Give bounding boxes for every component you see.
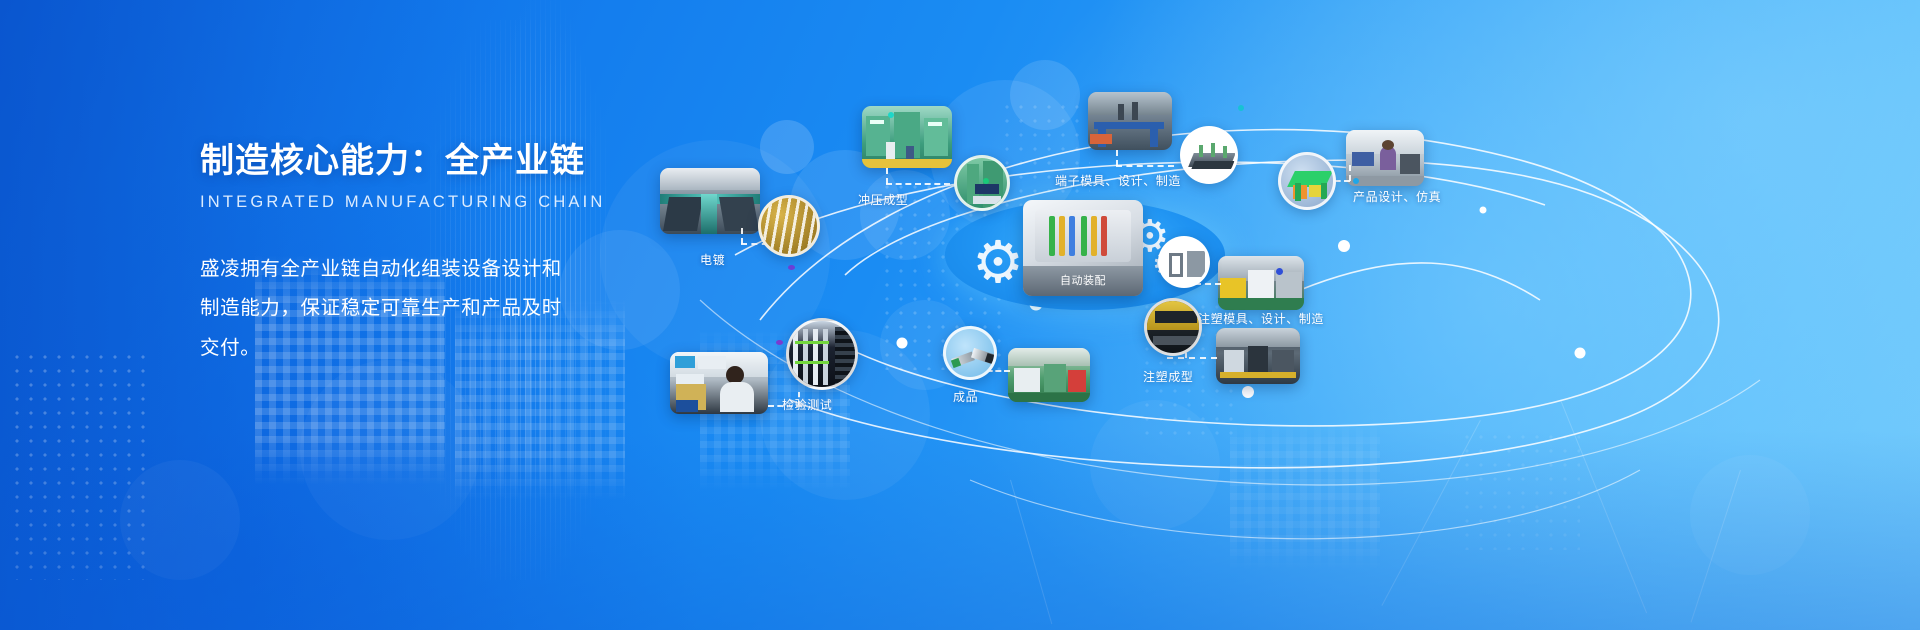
connector-terminal-mold-v [1116, 150, 1118, 166]
node-photo-terminal-mold[interactable] [1088, 92, 1172, 150]
node-label-stamping: 冲压成型 [858, 191, 908, 208]
accent-speck [776, 340, 783, 345]
node-photo-injection-mold[interactable] [1218, 256, 1304, 310]
node-label-terminal-mold: 端子模具、设计、制造 [1055, 172, 1181, 189]
connector-injection-molding [1167, 357, 1217, 359]
node-icon-injection-mold[interactable] [1158, 236, 1210, 288]
node-label-inspection-testing: 检验测试 [782, 396, 832, 413]
accent-speck [888, 112, 894, 118]
accent-speck [788, 265, 795, 270]
node-label-injection-molding: 注塑成型 [1143, 368, 1193, 385]
manufacturing-chain-diagram: ⚙ ⚙ ⚙ 自动装配 电镀 [640, 0, 1920, 630]
node-icon-product-design[interactable] [1278, 152, 1336, 210]
node-icon-finished-product[interactable] [943, 326, 997, 380]
node-photo-electroplating[interactable] [660, 168, 760, 234]
connector-product-design-v [1349, 165, 1351, 181]
gear-icon: ⚙ [972, 234, 1024, 292]
node-label-finished-product: 成品 [953, 388, 978, 405]
page-subtitle: INTEGRATED MANUFACTURING CHAIN [200, 193, 630, 212]
node-icon-inspection-testing[interactable] [786, 318, 858, 390]
connector-stamping [886, 183, 950, 185]
accent-speck [983, 178, 989, 184]
hero-description: 盛凌拥有全产业链自动化组装设备设计和制造能力，保证稳定可靠生产和产品及时交付。 [200, 250, 568, 370]
accent-speck [1238, 105, 1244, 111]
node-label-product-design: 产品设计、仿真 [1353, 188, 1441, 205]
node-icon-electroplating[interactable] [758, 195, 820, 257]
node-icon-stamping[interactable] [954, 155, 1010, 211]
hero-copy: 制造核心能力：全产业链 INTEGRATED MANUFACTURING CHA… [200, 140, 630, 369]
node-icon-injection-molding[interactable] [1144, 298, 1202, 356]
node-icon-terminal-mold[interactable] [1180, 126, 1238, 184]
connector-terminal-mold [1116, 165, 1174, 167]
hub-label: 自动装配 [1023, 272, 1143, 288]
node-photo-finished-product[interactable] [1008, 348, 1090, 402]
node-photo-stamping[interactable] [862, 106, 952, 168]
page-title: 制造核心能力：全产业链 [200, 140, 630, 183]
accent-speck [1353, 178, 1359, 184]
accent-speck [1276, 268, 1283, 275]
node-label-electroplating: 电镀 [700, 251, 725, 268]
connector-stamping-v [886, 168, 888, 184]
node-photo-injection-molding[interactable] [1216, 328, 1300, 384]
connector-electroplating-v [741, 228, 743, 244]
node-photo-inspection-testing[interactable] [670, 352, 768, 414]
node-label-injection-mold: 注塑模具、设计、制造 [1198, 310, 1324, 327]
hero-banner: 制造核心能力：全产业链 INTEGRATED MANUFACTURING CHA… [0, 0, 1920, 630]
